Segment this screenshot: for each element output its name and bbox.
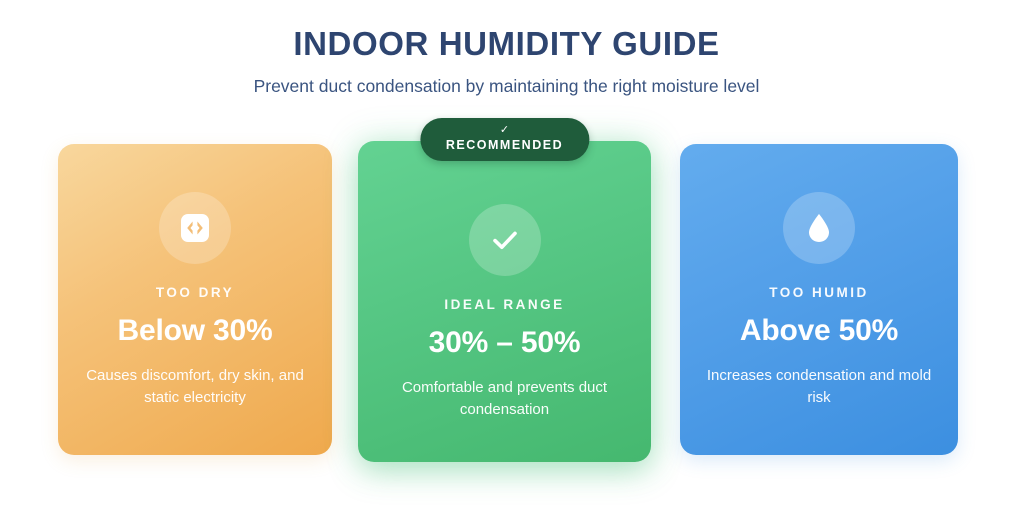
water-drop-icon xyxy=(783,192,855,264)
card-description: Comfortable and prevents duct condensati… xyxy=(358,377,651,422)
card-value: Below 30% xyxy=(58,314,332,347)
card-too-dry[interactable]: TOO DRY Below 30% Causes discomfort, dry… xyxy=(58,144,332,455)
recommended-badge: ✓ RECOMMENDED xyxy=(420,118,589,161)
code-brackets-icon xyxy=(159,192,231,264)
card-value: Above 50% xyxy=(680,314,958,347)
card-label: TOO DRY xyxy=(58,286,332,300)
page-subtitle: Prevent duct condensation by maintaining… xyxy=(0,63,1013,97)
card-description: Causes discomfort, dry skin, and static … xyxy=(58,365,332,410)
card-text-block: TOO DRY Below 30% Causes discomfort, dry… xyxy=(58,286,332,410)
card-value: 30% – 50% xyxy=(358,326,651,359)
humidity-card-group: TOO DRY Below 30% Causes discomfort, dry… xyxy=(0,118,1013,478)
card-too-humid[interactable]: TOO HUMID Above 50% Increases condensati… xyxy=(680,144,958,455)
card-text-block: TOO HUMID Above 50% Increases condensati… xyxy=(680,286,958,410)
card-label: TOO HUMID xyxy=(680,286,958,300)
page-header: Indoor Humidity Guide Prevent duct conde… xyxy=(0,0,1013,97)
card-text-block: IDEAL RANGE 30% – 50% Comfortable and pr… xyxy=(358,298,651,422)
card-label: IDEAL RANGE xyxy=(358,298,651,312)
page-title: Indoor Humidity Guide xyxy=(0,0,1013,63)
recommended-badge-label: RECOMMENDED xyxy=(446,139,563,152)
card-description: Increases condensation and mold risk xyxy=(680,365,958,410)
card-ideal-range[interactable]: ✓ RECOMMENDED IDEAL RANGE 30% – 50% Comf… xyxy=(358,141,651,462)
check-icon: ✓ xyxy=(446,125,563,136)
checkmark-icon xyxy=(469,204,541,276)
